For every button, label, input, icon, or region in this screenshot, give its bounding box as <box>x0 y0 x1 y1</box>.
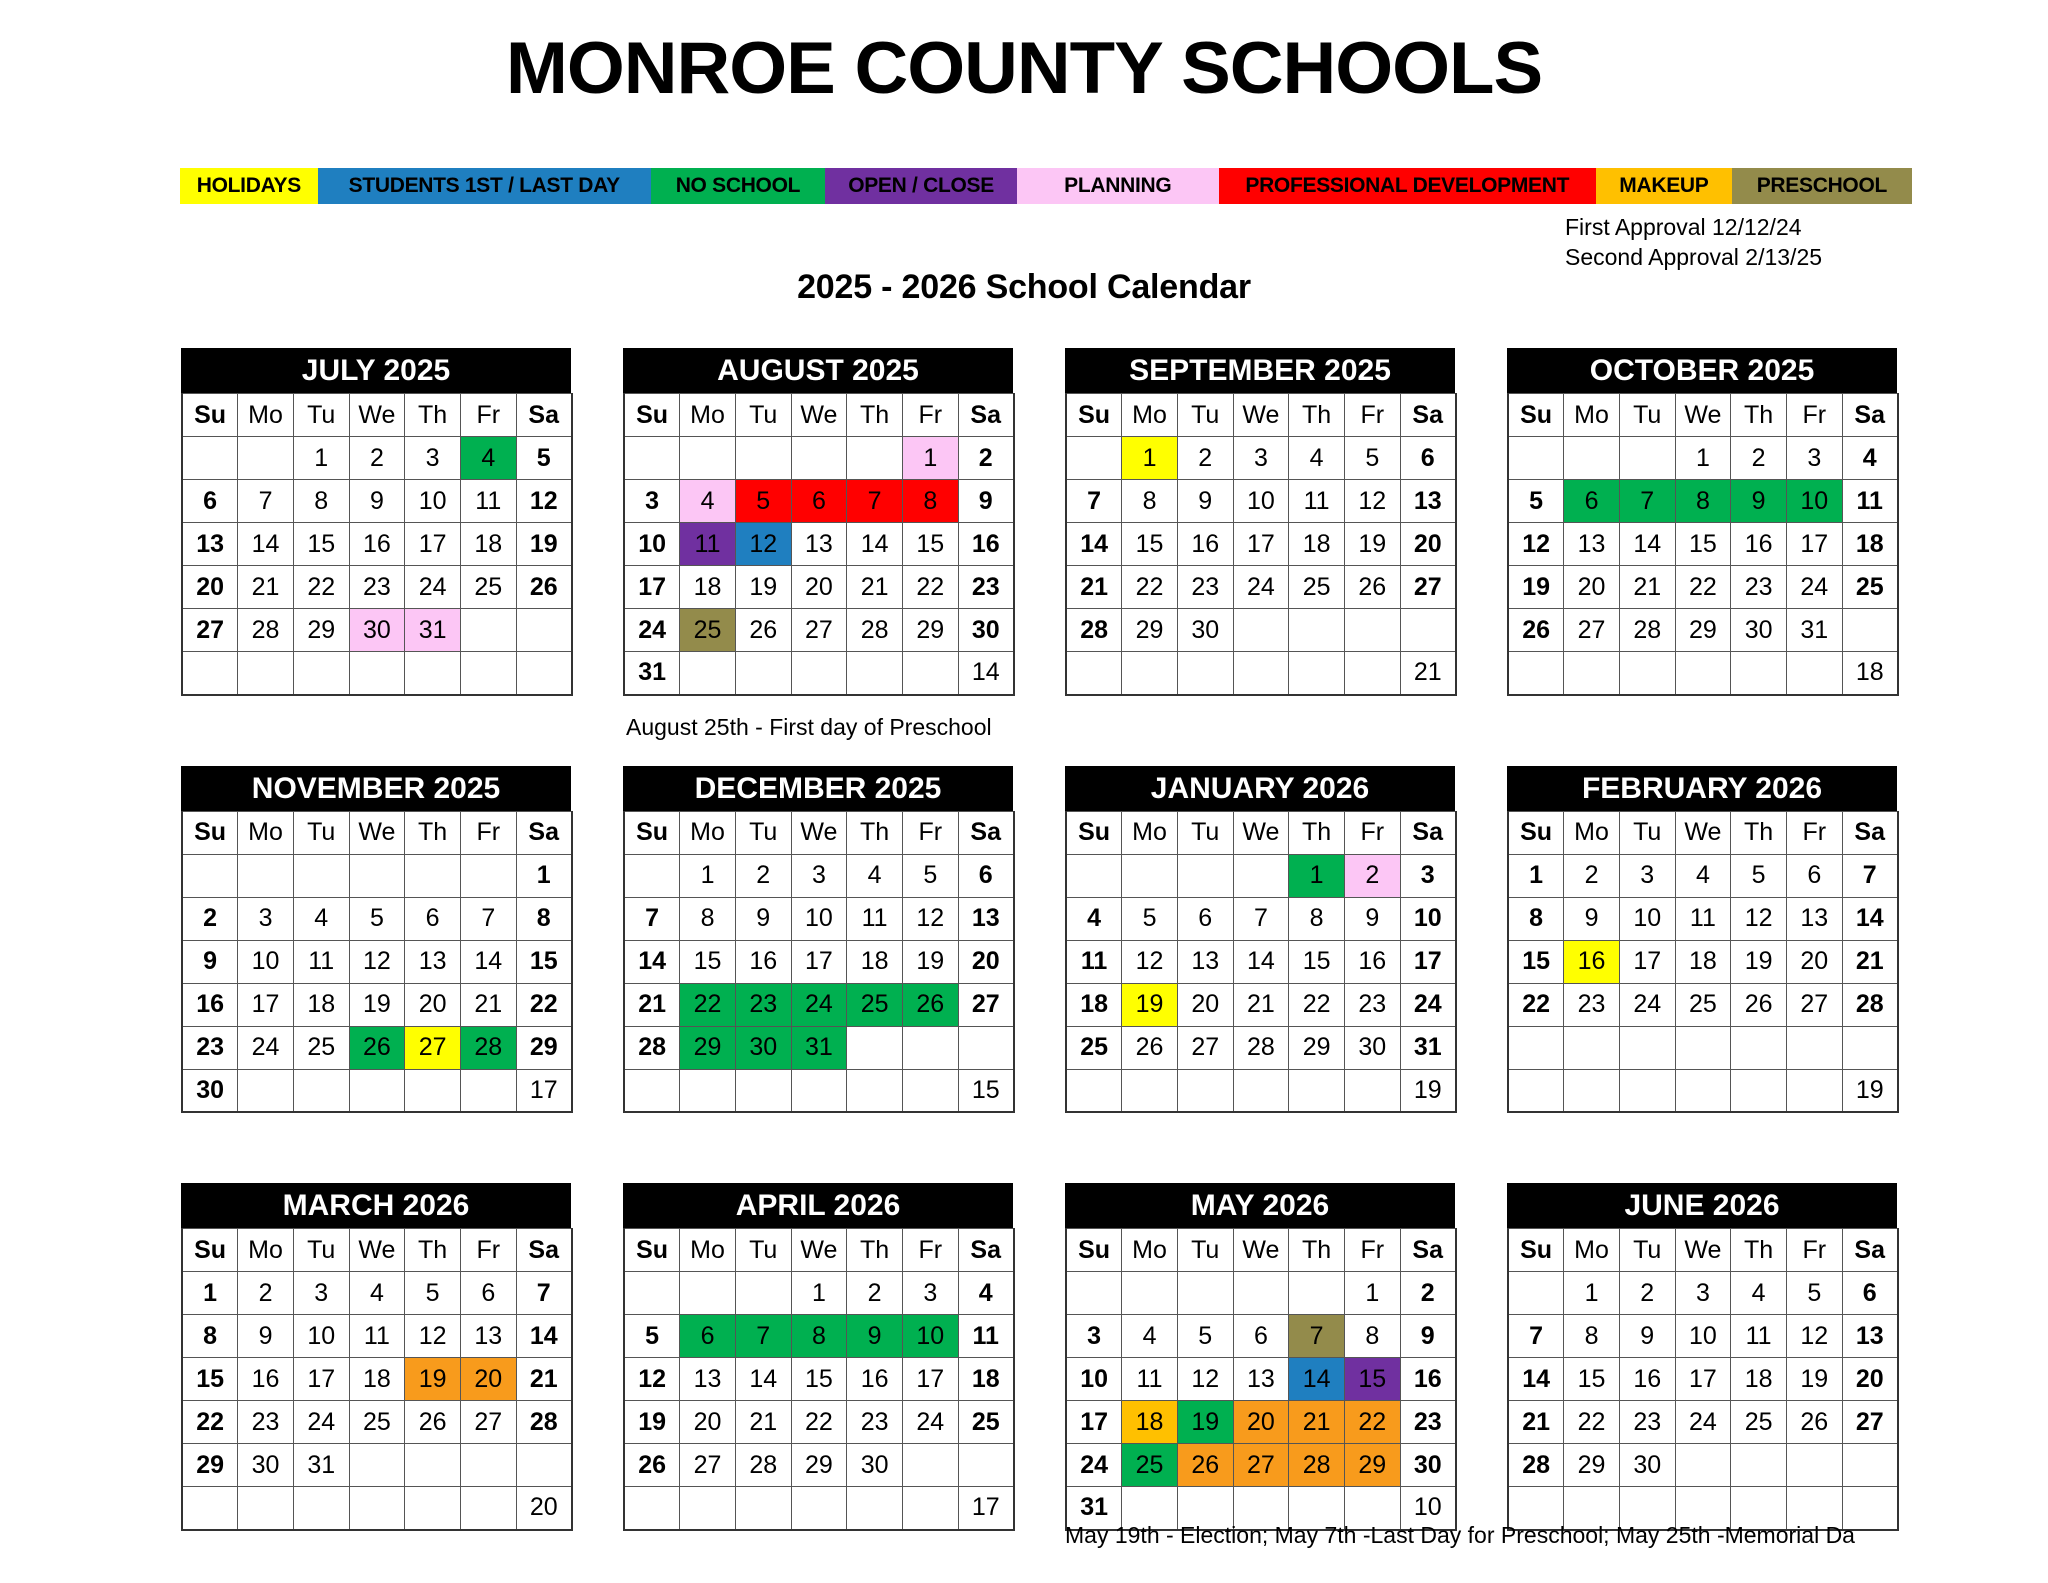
weekday-header-we: We <box>791 1229 847 1272</box>
day-cell: 6 <box>1842 1272 1898 1315</box>
day-cell: 12 <box>1786 1315 1842 1358</box>
week-row: 891011121314 <box>1508 897 1898 940</box>
day-cell: 18 <box>349 1358 405 1401</box>
empty-cell <box>405 854 461 897</box>
day-cell: 16 <box>349 523 405 566</box>
legend-item-open-close: OPEN / CLOSE <box>825 168 1017 204</box>
day-cell: 20 <box>680 1401 736 1444</box>
day-cell: 6 <box>1400 437 1456 480</box>
week-row: 2345678 <box>182 897 572 940</box>
weekday-header-mo: Mo <box>680 811 736 854</box>
empty-cell <box>1233 1069 1289 1112</box>
day-cell: 23 <box>1177 566 1233 609</box>
empty-cell <box>238 437 294 480</box>
day-cell: 13 <box>1177 940 1233 983</box>
empty-cell <box>238 652 294 695</box>
day-cell: 27 <box>680 1444 736 1487</box>
day-cell: 20 <box>1842 1358 1898 1401</box>
day-cell: 3 <box>624 480 680 523</box>
week-row: 12 <box>624 437 1014 480</box>
day-cell: 7 <box>624 897 680 940</box>
day-cell: 18 <box>680 566 736 609</box>
weekday-header-we: We <box>349 811 405 854</box>
day-cell: 30 <box>958 609 1014 652</box>
day-cell: 11 <box>1066 940 1122 983</box>
day-cell: 18 <box>1675 940 1731 983</box>
day-cell: 26 <box>902 983 958 1026</box>
day-cell: 22 <box>1675 566 1731 609</box>
day-cell: 17 <box>1233 523 1289 566</box>
day-cell: 14 <box>238 523 294 566</box>
day-cell: 17 <box>902 1358 958 1401</box>
day-cell: 5 <box>1122 897 1178 940</box>
day-cell: 19 <box>1731 940 1787 983</box>
day-cell: 25 <box>1675 983 1731 1026</box>
day-cell: 15 <box>902 523 958 566</box>
weekday-header-sa: Sa <box>1842 394 1898 437</box>
empty-cell <box>624 1272 680 1315</box>
day-cell: 8 <box>1675 480 1731 523</box>
week-row: 24252627282930 <box>1066 1444 1456 1487</box>
day-cell: 8 <box>1508 897 1564 940</box>
empty-cell <box>1675 1444 1731 1487</box>
day-cell: 13 <box>1400 480 1456 523</box>
day-cell: 21 <box>1289 1401 1345 1444</box>
weekday-header-tu: Tu <box>293 1229 349 1272</box>
day-cell: 8 <box>182 1315 238 1358</box>
weekday-header-sa: Sa <box>1842 811 1898 854</box>
weekday-header-fr: Fr <box>1344 811 1400 854</box>
day-cell: 17 <box>293 1358 349 1401</box>
day-cell: 23 <box>1400 1401 1456 1444</box>
day-cell: 14 <box>1289 1358 1345 1401</box>
empty-cell <box>1400 609 1456 652</box>
day-cell: 1 <box>902 437 958 480</box>
empty-cell <box>1066 854 1122 897</box>
day-cell: 21 <box>1508 1401 1564 1444</box>
empty-cell <box>349 652 405 695</box>
empty-cell <box>1619 437 1675 480</box>
day-cell: 24 <box>293 1401 349 1444</box>
empty-cell <box>1508 652 1564 695</box>
day-cell: 8 <box>1564 1315 1620 1358</box>
day-cell: 11 <box>1289 480 1345 523</box>
day-cell: 26 <box>1177 1444 1233 1487</box>
empty-cell <box>624 1487 680 1530</box>
page-title: MONROE COUNTY SCHOOLS <box>0 0 2048 105</box>
legend-item-students-1st-last-day: STUDENTS 1ST / LAST DAY <box>318 168 651 204</box>
week-row: 123456 <box>1066 437 1456 480</box>
day-cell: 19 <box>735 566 791 609</box>
weekday-header-mo: Mo <box>1122 394 1178 437</box>
weekday-header-mo: Mo <box>238 1229 294 1272</box>
month-january-2026: JANUARY 2026SuMoTuWeThFrSa 1234567891011… <box>1065 766 1455 1114</box>
empty-cell <box>1675 652 1731 695</box>
weekday-header-fr: Fr <box>1786 394 1842 437</box>
day-cell: 1 <box>1508 854 1564 897</box>
empty-cell <box>1177 1069 1233 1112</box>
weekday-header-fr: Fr <box>1786 1229 1842 1272</box>
day-cell: 6 <box>1233 1315 1289 1358</box>
day-cell: 28 <box>516 1401 572 1444</box>
day-cell: 3 <box>791 854 847 897</box>
day-cell: 12 <box>1177 1358 1233 1401</box>
day-cell: 20 <box>1177 983 1233 1026</box>
day-cell: 3 <box>405 437 461 480</box>
weekday-header-we: We <box>1675 811 1731 854</box>
day-cell: 8 <box>516 897 572 940</box>
week-row: 78910111213 <box>1508 1315 1898 1358</box>
week-row: 45678910 <box>1066 897 1456 940</box>
day-cell: 24 <box>1400 983 1456 1026</box>
day-cell: 5 <box>405 1272 461 1315</box>
day-cell: 24 <box>1619 983 1675 1026</box>
day-cell: 30 <box>735 1026 791 1069</box>
week-row: 18 <box>1508 652 1898 695</box>
weekday-header-sa: Sa <box>516 394 572 437</box>
empty-cell <box>238 1069 294 1112</box>
empty-cell <box>1122 652 1178 695</box>
empty-cell <box>791 437 847 480</box>
day-cell: 31 <box>791 1026 847 1069</box>
legend-item-professional-development: PROFESSIONAL DEVELOPMENT <box>1219 168 1596 204</box>
day-cell: 10 <box>624 523 680 566</box>
day-cell: 30 <box>847 1444 903 1487</box>
day-cell: 23 <box>1564 983 1620 1026</box>
approval-notes: First Approval 12/12/24 Second Approval … <box>1565 212 1822 273</box>
weekday-header-tu: Tu <box>1619 394 1675 437</box>
day-cell: 2 <box>1564 854 1620 897</box>
day-cell: 6 <box>405 897 461 940</box>
day-cell: 15 <box>1344 1358 1400 1401</box>
instructional-day-count: 17 <box>958 1487 1014 1530</box>
day-cell: 2 <box>349 437 405 480</box>
week-row: 11121314151617 <box>1066 940 1456 983</box>
month-grid: SuMoTuWeThFrSa 1234567891011121314151617… <box>623 811 1015 1114</box>
empty-cell <box>1177 652 1233 695</box>
day-cell: 27 <box>958 983 1014 1026</box>
day-cell: 1 <box>1122 437 1178 480</box>
empty-cell <box>516 652 572 695</box>
day-cell: 27 <box>1564 609 1620 652</box>
day-cell: 19 <box>1508 566 1564 609</box>
weekday-header-sa: Sa <box>958 394 1014 437</box>
day-cell: 21 <box>1619 566 1675 609</box>
day-cell: 8 <box>293 480 349 523</box>
weekday-header-su: Su <box>182 1229 238 1272</box>
day-cell: 5 <box>624 1315 680 1358</box>
day-cell: 14 <box>1508 1358 1564 1401</box>
day-cell: 25 <box>1122 1444 1178 1487</box>
day-cell: 21 <box>1233 983 1289 1026</box>
day-cell: 9 <box>847 1315 903 1358</box>
week-row <box>182 652 572 695</box>
empty-cell <box>791 1069 847 1112</box>
day-cell: 4 <box>1066 897 1122 940</box>
day-cell: 2 <box>238 1272 294 1315</box>
month-august-2025: AUGUST 2025SuMoTuWeThFrSa 12345678910111… <box>623 348 1013 696</box>
empty-cell <box>791 1487 847 1530</box>
empty-cell <box>1675 1026 1731 1069</box>
week-row: 21222324252627 <box>1066 566 1456 609</box>
week-row: 17181920212223 <box>624 566 1014 609</box>
day-cell: 10 <box>293 1315 349 1358</box>
day-cell: 18 <box>293 983 349 1026</box>
day-cell: 24 <box>902 1401 958 1444</box>
day-cell: 22 <box>1564 1401 1620 1444</box>
empty-cell <box>680 1487 736 1530</box>
month-title: JUNE 2026 <box>1507 1183 1897 1228</box>
week-row: 1234 <box>1508 437 1898 480</box>
weekday-header-tu: Tu <box>735 1229 791 1272</box>
weekday-header-su: Su <box>1066 811 1122 854</box>
week-row: 14151617181920 <box>1066 523 1456 566</box>
empty-cell <box>460 1069 516 1112</box>
day-cell: 12 <box>1508 523 1564 566</box>
empty-cell <box>958 1444 1014 1487</box>
month-september-2025: SEPTEMBER 2025SuMoTuWeThFrSa 12345678910… <box>1065 348 1455 696</box>
empty-cell <box>1344 1069 1400 1112</box>
day-cell: 28 <box>1619 609 1675 652</box>
day-cell: 4 <box>1675 854 1731 897</box>
weekday-header-su: Su <box>1508 394 1564 437</box>
day-cell: 16 <box>1400 1358 1456 1401</box>
empty-cell <box>1344 609 1400 652</box>
weekday-header-we: We <box>791 811 847 854</box>
empty-cell <box>847 437 903 480</box>
day-cell: 13 <box>1842 1315 1898 1358</box>
week-row: 282930 <box>1508 1444 1898 1487</box>
day-cell: 28 <box>735 1444 791 1487</box>
day-cell: 23 <box>735 983 791 1026</box>
day-cell: 4 <box>1289 437 1345 480</box>
empty-cell <box>1066 1069 1122 1112</box>
weekday-header-th: Th <box>847 1229 903 1272</box>
day-cell: 31 <box>1786 609 1842 652</box>
empty-cell <box>1619 1026 1675 1069</box>
weekday-header-tu: Tu <box>735 811 791 854</box>
month-title: APRIL 2026 <box>623 1183 1013 1228</box>
day-cell: 10 <box>1786 480 1842 523</box>
empty-cell <box>238 1487 294 1530</box>
empty-cell <box>847 1487 903 1530</box>
weekday-header-mo: Mo <box>1564 394 1620 437</box>
week-row: 123 <box>1066 854 1456 897</box>
day-cell: 31 <box>293 1444 349 1487</box>
week-row: 1 <box>182 854 572 897</box>
day-cell: 20 <box>791 566 847 609</box>
month-grid: SuMoTuWeThFrSa 1234567891011121314151617… <box>1507 1228 1899 1531</box>
empty-cell <box>1289 609 1345 652</box>
day-cell: 24 <box>405 566 461 609</box>
weekday-header-mo: Mo <box>680 1229 736 1272</box>
day-cell: 28 <box>1233 1026 1289 1069</box>
day-cell: 1 <box>680 854 736 897</box>
day-cell: 18 <box>460 523 516 566</box>
day-cell: 28 <box>460 1026 516 1069</box>
week-row: 123456 <box>624 854 1014 897</box>
day-cell: 13 <box>460 1315 516 1358</box>
empty-cell <box>460 609 516 652</box>
empty-cell <box>1233 652 1289 695</box>
day-cell: 11 <box>958 1315 1014 1358</box>
week-row: 282930 <box>1066 609 1456 652</box>
day-cell: 18 <box>1066 983 1122 1026</box>
day-cell: 24 <box>624 609 680 652</box>
empty-cell <box>1289 1272 1345 1315</box>
day-cell: 1 <box>1289 854 1345 897</box>
day-cell: 16 <box>238 1358 294 1401</box>
day-cell: 27 <box>460 1401 516 1444</box>
day-cell: 2 <box>1177 437 1233 480</box>
weekday-header-sa: Sa <box>958 1229 1014 1272</box>
day-cell: 26 <box>1122 1026 1178 1069</box>
week-row: 12345 <box>182 437 572 480</box>
day-cell: 7 <box>1619 480 1675 523</box>
month-october-2025: OCTOBER 2025SuMoTuWeThFrSa 1234567891011… <box>1507 348 1897 696</box>
weekday-header-tu: Tu <box>293 811 349 854</box>
month-title: FEBRUARY 2026 <box>1507 766 1897 811</box>
day-cell: 14 <box>735 1358 791 1401</box>
empty-cell <box>1177 1272 1233 1315</box>
day-cell: 20 <box>1400 523 1456 566</box>
day-cell: 30 <box>238 1444 294 1487</box>
day-cell: 6 <box>791 480 847 523</box>
day-cell: 4 <box>349 1272 405 1315</box>
instructional-day-count: 18 <box>1842 652 1898 695</box>
day-cell: 7 <box>460 897 516 940</box>
weekday-header-we: We <box>1233 394 1289 437</box>
day-cell: 26 <box>624 1444 680 1487</box>
day-cell: 26 <box>1344 566 1400 609</box>
day-cell: 25 <box>1842 566 1898 609</box>
day-cell: 21 <box>460 983 516 1026</box>
empty-cell <box>1122 1272 1178 1315</box>
weekday-header-mo: Mo <box>238 811 294 854</box>
day-cell: 3 <box>293 1272 349 1315</box>
day-cell: 28 <box>1289 1444 1345 1487</box>
day-cell: 11 <box>460 480 516 523</box>
day-cell: 7 <box>847 480 903 523</box>
day-cell: 10 <box>238 940 294 983</box>
day-cell: 20 <box>1233 1401 1289 1444</box>
day-cell: 5 <box>349 897 405 940</box>
day-cell: 14 <box>516 1315 572 1358</box>
day-cell: 17 <box>238 983 294 1026</box>
empty-cell <box>1842 1026 1898 1069</box>
day-cell: 13 <box>1233 1358 1289 1401</box>
empty-cell <box>624 854 680 897</box>
day-cell: 3 <box>1233 437 1289 480</box>
day-cell: 6 <box>182 480 238 523</box>
day-cell: 19 <box>1177 1401 1233 1444</box>
weekday-header-mo: Mo <box>1122 1229 1178 1272</box>
day-cell: 17 <box>791 940 847 983</box>
day-cell: 30 <box>1344 1026 1400 1069</box>
day-cell: 7 <box>1233 897 1289 940</box>
empty-cell <box>1619 1069 1675 1112</box>
day-cell: 27 <box>1233 1444 1289 1487</box>
day-cell: 14 <box>1233 940 1289 983</box>
empty-cell <box>1122 1069 1178 1112</box>
empty-cell <box>680 437 736 480</box>
empty-cell <box>680 1069 736 1112</box>
empty-cell <box>680 652 736 695</box>
week-row: 18192021222324 <box>1066 983 1456 1026</box>
weekday-header-sa: Sa <box>1842 1229 1898 1272</box>
day-cell: 29 <box>1344 1444 1400 1487</box>
week-row: 3456789 <box>1066 1315 1456 1358</box>
empty-cell <box>405 1444 461 1487</box>
day-cell: 19 <box>624 1401 680 1444</box>
month-title: JULY 2025 <box>181 348 571 393</box>
day-cell: 26 <box>735 609 791 652</box>
weekday-header-we: We <box>791 394 847 437</box>
day-cell: 22 <box>182 1401 238 1444</box>
legend-item-no-school: NO SCHOOL <box>651 168 825 204</box>
month-november-2025: NOVEMBER 2025SuMoTuWeThFrSa 123456789101… <box>181 766 571 1114</box>
month-grid: SuMoTuWeThFrSa 1234567891011121314151617… <box>181 811 573 1114</box>
weekday-header-su: Su <box>1066 1229 1122 1272</box>
day-cell: 10 <box>405 480 461 523</box>
week-row: 1234 <box>624 1272 1014 1315</box>
weekday-header-we: We <box>349 394 405 437</box>
week-row: 293031 <box>182 1444 572 1487</box>
day-cell: 13 <box>958 897 1014 940</box>
day-cell: 6 <box>460 1272 516 1315</box>
month-grid: SuMoTuWeThFrSa 1234567891011121314151617… <box>1065 393 1457 696</box>
day-cell: 17 <box>624 566 680 609</box>
week-row: 15161718192021 <box>1508 940 1898 983</box>
day-cell: 18 <box>1122 1401 1178 1444</box>
day-cell: 25 <box>460 566 516 609</box>
day-cell: 19 <box>902 940 958 983</box>
day-cell: 15 <box>293 523 349 566</box>
day-cell: 21 <box>624 983 680 1026</box>
day-cell: 8 <box>791 1315 847 1358</box>
month-april-2026: APRIL 2026SuMoTuWeThFrSa 123456789101112… <box>623 1183 1013 1531</box>
day-cell: 13 <box>405 940 461 983</box>
empty-cell <box>1289 1069 1345 1112</box>
day-cell: 6 <box>1177 897 1233 940</box>
month-grid: SuMoTuWeThFrSa12345678910111213141516171… <box>1507 811 1899 1114</box>
empty-cell <box>735 1272 791 1315</box>
day-cell: 9 <box>958 480 1014 523</box>
weekday-header-fr: Fr <box>902 394 958 437</box>
day-cell: 9 <box>238 1315 294 1358</box>
day-cell: 10 <box>1400 897 1456 940</box>
day-cell: 27 <box>1177 1026 1233 1069</box>
empty-cell <box>1731 1069 1787 1112</box>
legend-item-preschool: PRESCHOOL <box>1732 168 1912 204</box>
day-cell: 12 <box>349 940 405 983</box>
month-grid: SuMoTuWeThFrSa 1234567891011121314151617… <box>181 393 573 696</box>
week-row: 22232425262728 <box>1508 983 1898 1026</box>
month-grid: SuMoTuWeThFrSa 1234567891011121314151617… <box>1065 1228 1457 1531</box>
day-cell: 29 <box>182 1444 238 1487</box>
day-cell: 27 <box>1400 566 1456 609</box>
day-cell: 18 <box>847 940 903 983</box>
day-cell: 17 <box>1619 940 1675 983</box>
day-cell: 6 <box>1786 854 1842 897</box>
day-cell: 9 <box>1400 1315 1456 1358</box>
weekday-header-fr: Fr <box>1344 1229 1400 1272</box>
day-cell: 13 <box>680 1358 736 1401</box>
day-cell: 1 <box>791 1272 847 1315</box>
day-cell: 12 <box>624 1358 680 1401</box>
week-row: 19 <box>1508 1069 1898 1112</box>
day-cell: 5 <box>1731 854 1787 897</box>
